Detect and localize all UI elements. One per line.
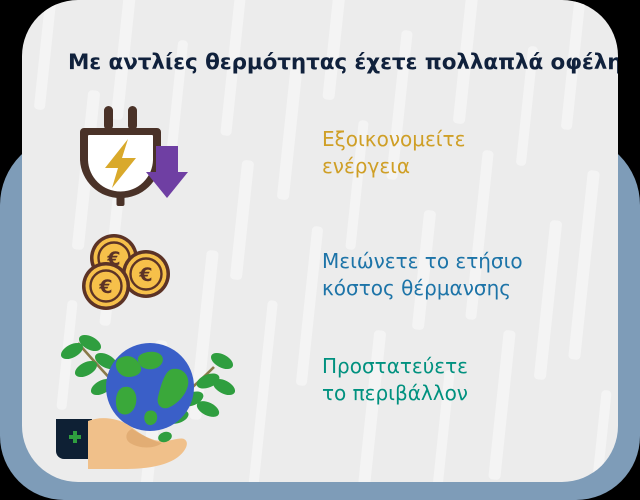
benefit-line-1: Μειώνετε το ετήσιο	[322, 248, 612, 275]
benefit-text-energy: Εξοικονομείτε ενέργεια	[322, 98, 612, 180]
hand-holding-earth-with-leaves-icon	[32, 325, 252, 465]
benefit-line-2: ενέργεια	[322, 153, 612, 180]
benefit-row-energy: Εξοικονομείτε ενέργεια	[22, 98, 618, 218]
benefit-row-cost: € € €	[22, 218, 618, 338]
svg-text:€: €	[98, 276, 112, 298]
page-title: Με αντλίες θερμότητας έχετε πολλαπλά οφέ…	[68, 50, 618, 75]
benefit-line-1: Εξοικονομείτε	[322, 126, 612, 153]
benefits-card: Με αντλίες θερμότητας έχετε πολλαπλά οφέ…	[22, 0, 618, 482]
svg-text:€: €	[138, 264, 152, 286]
benefit-row-environment: Προστατεύετε το περιβάλλον	[22, 325, 618, 445]
power-plug-with-down-arrow-icon	[58, 98, 238, 218]
benefit-line-1: Προστατεύετε	[322, 353, 612, 380]
benefit-text-cost: Μειώνετε το ετήσιο κόστος θέρμανσης	[322, 218, 612, 302]
euro-coins-icon: € € €	[58, 218, 238, 338]
benefit-line-2: κόστος θέρμανσης	[322, 275, 612, 302]
benefit-text-environment: Προστατεύετε το περιβάλλον	[322, 325, 612, 407]
screenshot-stage: Με αντλίες θερμότητας έχετε πολλαπλά οφέ…	[0, 0, 640, 500]
benefit-line-2: το περιβάλλον	[322, 380, 612, 407]
